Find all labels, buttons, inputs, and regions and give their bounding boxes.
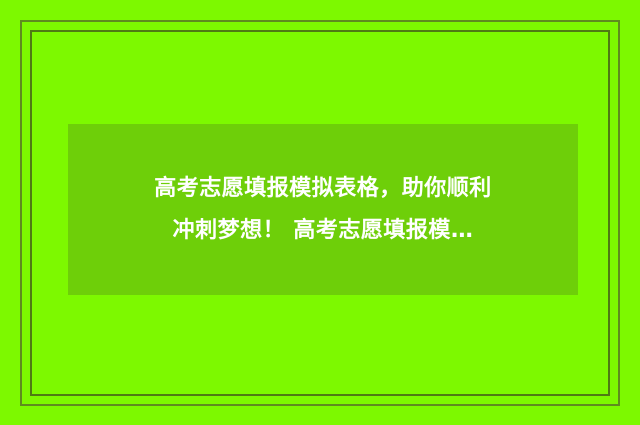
headline-line-1: 高考志愿填报模拟表格，助你顺利 [154,168,492,210]
promo-card: 高考志愿填报模拟表格，助你顺利 冲刺梦想！ 高考志愿填报模… [0,0,640,425]
headline-panel: 高考志愿填报模拟表格，助你顺利 冲刺梦想！ 高考志愿填报模… [68,124,578,295]
headline-text: 高考志愿填报模拟表格，助你顺利 冲刺梦想！ 高考志愿填报模… [136,168,510,252]
headline-line-2: 冲刺梦想！ 高考志愿填报模… [154,210,492,252]
